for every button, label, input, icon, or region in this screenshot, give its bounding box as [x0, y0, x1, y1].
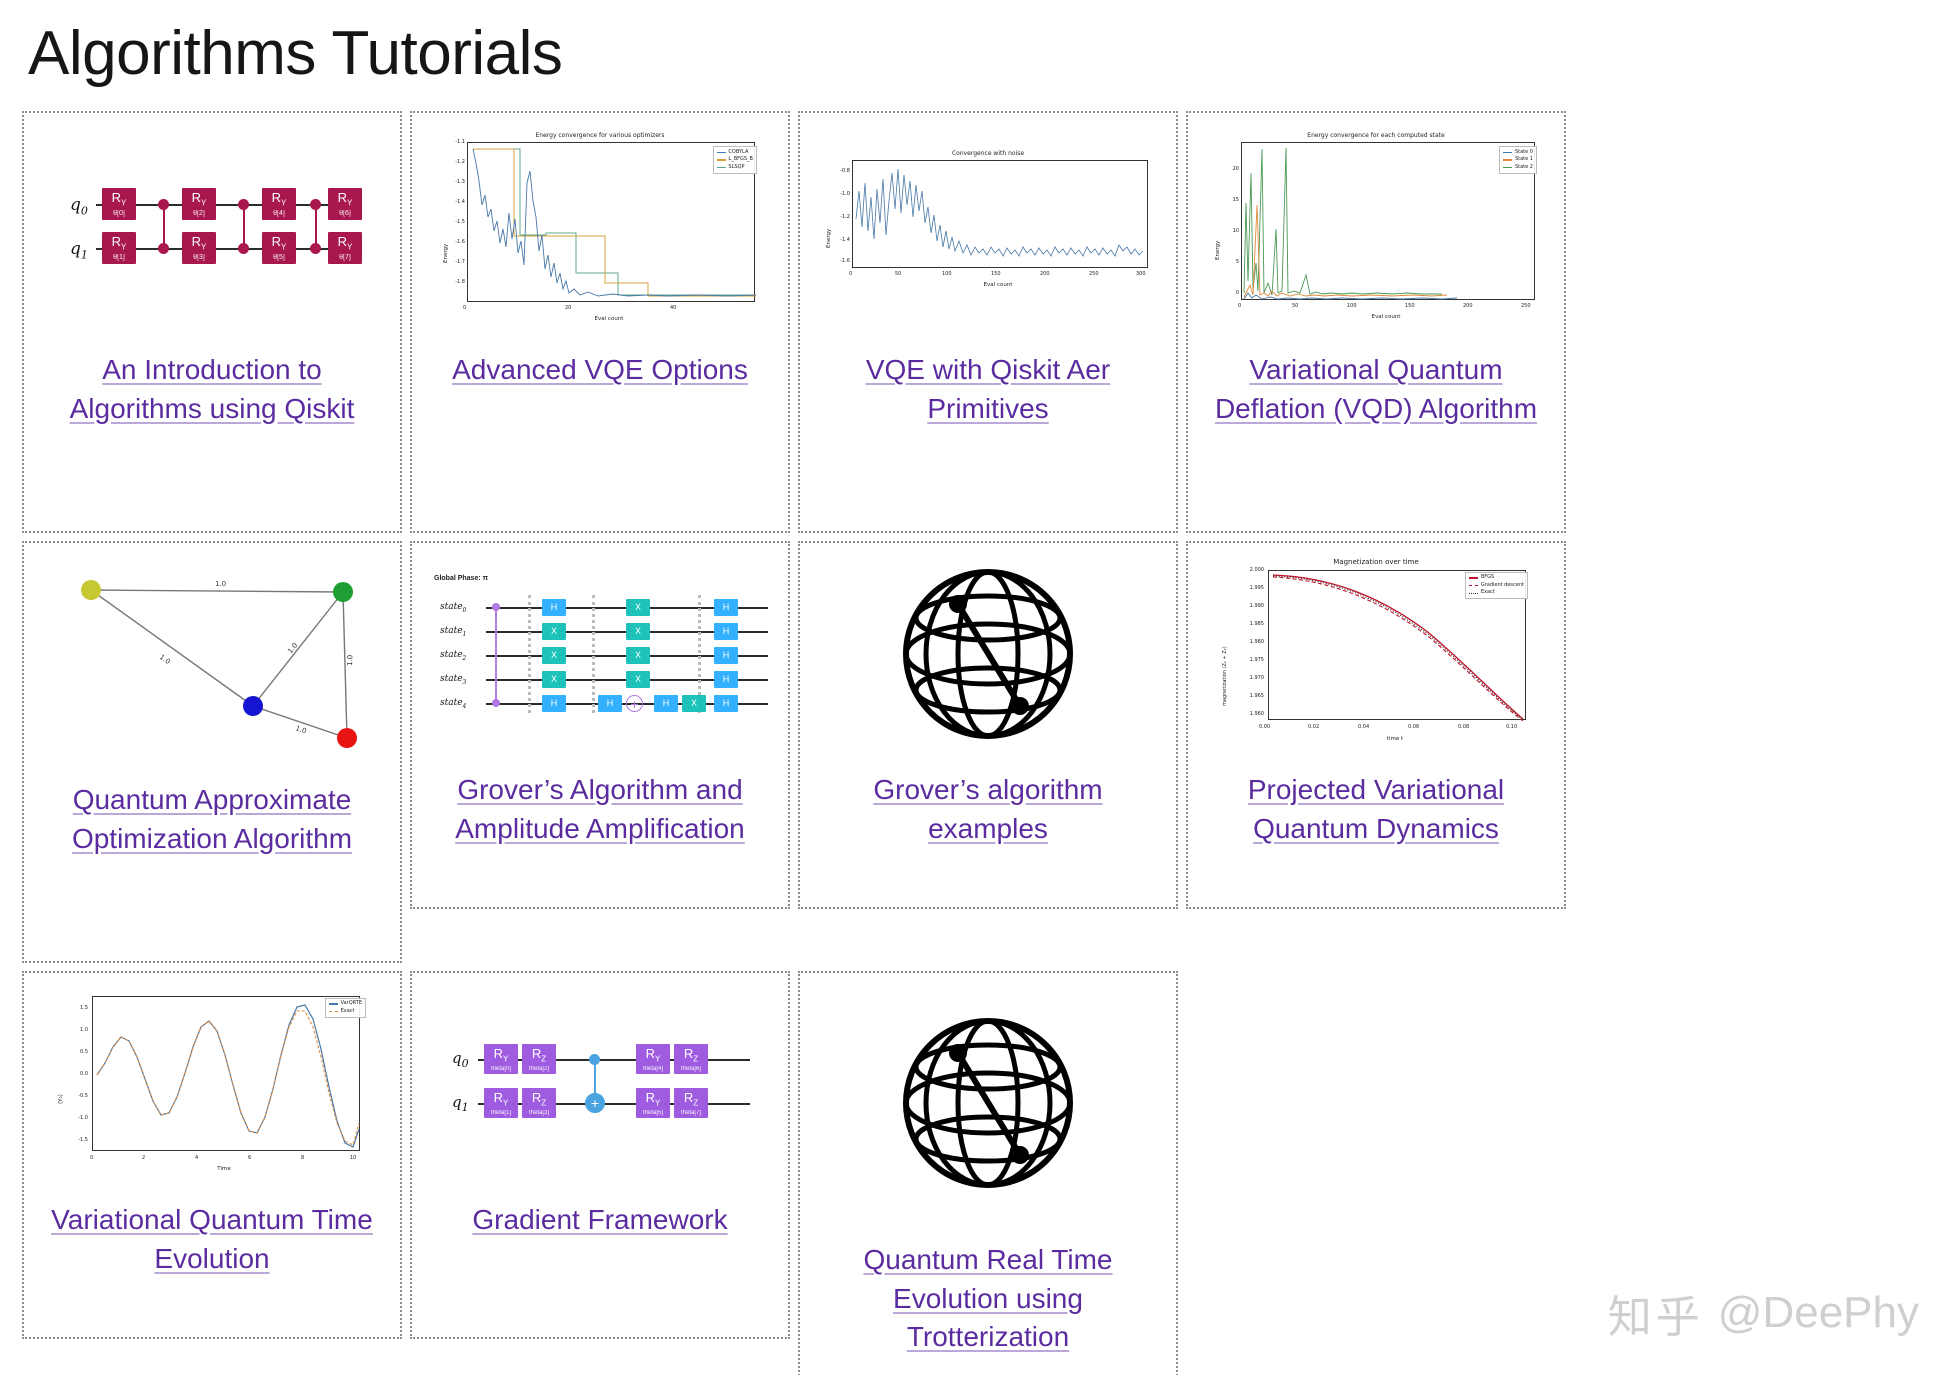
gate-ry-0: RYθ[0] [102, 188, 136, 220]
legend-entry: Exact [341, 1008, 355, 1016]
card-title-link[interactable]: VQE with Qiskit Aer Primitives [808, 351, 1168, 428]
xtick-label: 0.10 [1506, 724, 1517, 730]
chart-ylabel: Energy [1215, 241, 1221, 260]
xtick-label: 0.08 [1458, 724, 1469, 730]
cz-control-1b [158, 243, 169, 254]
gate-ry-5: RYθ[5] [262, 232, 296, 264]
bloch-sphere [888, 1003, 1088, 1203]
ytick-label: -1.6 [820, 258, 850, 264]
ytick-label: 2.000 [1226, 567, 1264, 573]
ytick-label: -1.2 [820, 214, 850, 220]
legend-entry: VarQRTE [341, 1000, 362, 1008]
ytick-label: 1.995 [1226, 585, 1264, 591]
chart-title: Convergence with noise [818, 150, 1158, 157]
ytick-label: -1.4 [437, 199, 465, 205]
svg-text:1.0: 1.0 [294, 725, 307, 736]
xtick-label: 4 [195, 1155, 198, 1161]
card-title-link[interactable]: Grover’s algorithm examples [808, 771, 1168, 848]
gate-rz-t3: RZtheta[3] [522, 1088, 556, 1118]
chart-legend: VarQRTE Exact [325, 998, 366, 1018]
legend-entry: Gradient descent [1481, 582, 1524, 590]
ytick-label: 20 [1209, 166, 1239, 172]
cz-control-2b [238, 243, 249, 254]
svg-text:1.0: 1.0 [158, 653, 172, 666]
ytick-label: 1.990 [1226, 603, 1264, 609]
ytick-label: 1.0 [54, 1027, 88, 1033]
gate-ry-2: RYθ[2] [182, 188, 216, 220]
watermark-handle: @DeePhy [1718, 1288, 1919, 1338]
gate-ry-t0: RYtheta[0] [484, 1044, 518, 1074]
thumbnail-circuit-gradient: q0 q1 RYtheta[0] RZtheta[2] RYtheta[1] R… [420, 983, 780, 1183]
ytick-label: 1.985 [1226, 621, 1264, 627]
chart-xlabel: Eval count [1239, 314, 1533, 320]
xtick-label: 10 [350, 1155, 356, 1161]
tutorial-card-grid: q0 q1 RYθ[0] RYθ[1] [0, 89, 1947, 1375]
ytick-label: -1.3 [437, 179, 465, 185]
tutorial-card-gradient-framework[interactable]: q0 q1 RYtheta[0] RZtheta[2] RYtheta[1] R… [410, 971, 790, 1339]
xtick-label: 100 [1347, 303, 1357, 309]
chart-legend: BFGS Gradient descent Exact [1465, 572, 1528, 600]
chart-xlabel: time t [1266, 736, 1524, 742]
chart-title: Energy convergence for various optimizer… [435, 132, 765, 139]
tutorial-card-grover-amplitude-amplification[interactable]: Global Phase: π state0 state1 state2 sta… [410, 541, 790, 909]
ytick-label: -1.8 [437, 279, 465, 285]
gate-rz-t7: RZtheta[7] [674, 1088, 708, 1118]
card-title-link[interactable]: Advanced VQE Options [446, 351, 754, 389]
gate-rz-t2: RZtheta[2] [522, 1044, 556, 1074]
card-title-link[interactable]: Gradient Framework [466, 1201, 733, 1239]
chart-xlabel: Eval count [850, 282, 1146, 288]
ytick-label: -1.0 [820, 191, 850, 197]
xtick-label: 0.00 [1259, 724, 1270, 730]
svg-text:1.0: 1.0 [215, 580, 226, 588]
xtick-label: 8 [301, 1155, 304, 1161]
state-label-2: state2 [440, 650, 466, 662]
card-title-link[interactable]: Quantum Approximate Optimization Algorit… [32, 781, 392, 858]
state-label-4: state4 [440, 698, 466, 710]
ytick-label: 1.980 [1226, 639, 1264, 645]
global-phase-label: Global Phase: π [434, 575, 488, 582]
qubit-label-q1: q1 [70, 239, 88, 261]
legend-entry: L_BFGS_B [728, 156, 753, 164]
card-title-link[interactable]: Variational Quantum Time Evolution [32, 1201, 392, 1278]
state-label-3: state3 [440, 674, 466, 686]
svg-text:1.0: 1.0 [286, 642, 299, 656]
chart-plot-area [93, 997, 361, 1152]
qubit-label-q0: q0 [452, 1049, 469, 1070]
gate-rz-t6: RZtheta[6] [674, 1044, 708, 1074]
cz-control-3a [310, 199, 321, 210]
state-label-1: state1 [440, 626, 466, 638]
xtick-label: 0 [1238, 303, 1241, 309]
chart-legend: COBYLA L_BFGS_B SLSQP [713, 146, 757, 174]
chart-title: Magnetization over time [1216, 558, 1536, 566]
ytick-label: 15 [1209, 197, 1239, 203]
xtick-label: 250 [1521, 303, 1531, 309]
legend-entry: BFGS [1481, 574, 1494, 582]
cnot-target: + [585, 1093, 605, 1113]
cz-link-1 [163, 204, 165, 248]
ytick-label: 1.970 [1226, 675, 1264, 681]
page-root: Algorithms Tutorials q0 q1 RYθ[0] RYθ[1] [0, 18, 1947, 1375]
xtick-label: 0 [463, 305, 466, 311]
xtick-label: 40 [670, 305, 676, 311]
card-title-link[interactable]: Grover’s Algorithm and Amplitude Amplifi… [420, 771, 780, 848]
card-title-link[interactable]: An Introduction to Algorithms using Qisk… [32, 351, 392, 428]
chart-title: Energy convergence for each computed sta… [1207, 132, 1545, 139]
legend-entry: State 2 [1515, 164, 1533, 172]
cz-link-3 [315, 204, 317, 248]
xtick-label: 0.02 [1308, 724, 1319, 730]
legend-entry: Exact [1481, 589, 1495, 597]
ytick-label: -1.7 [437, 259, 465, 265]
ytick-label: -1.1 [437, 139, 465, 145]
xtick-label: 150 [991, 271, 1001, 277]
gate-ry-t1: RYtheta[1] [484, 1088, 518, 1118]
xtick-label: 20 [565, 305, 571, 311]
xtick-label: 100 [942, 271, 952, 277]
tutorial-card-intro-algorithms-qiskit[interactable]: q0 q1 RYθ[0] RYθ[1] [22, 111, 402, 533]
ytick-label: -1.4 [820, 237, 850, 243]
xtick-label: 150 [1405, 303, 1415, 309]
thumbnail-circuit-ry: q0 q1 RYθ[0] RYθ[1] [32, 123, 392, 333]
xtick-label: 0.06 [1408, 724, 1419, 730]
tutorial-card-varqte[interactable]: ⟨Y₀⟩ 1.5 1.0 0.5 0.0 -0.5 -1.0 -1.5 0 [22, 971, 402, 1339]
thumbnail-circuit-grover: Global Phase: π state0 state1 state2 sta… [420, 553, 780, 753]
xtick-label: 2 [142, 1155, 145, 1161]
ytick-label: -1.5 [437, 219, 465, 225]
ytick-label: 5 [1209, 259, 1239, 265]
xtick-label: 6 [248, 1155, 251, 1161]
watermark-logo: 知乎 [1608, 1281, 1704, 1345]
qubit-label-q1: q1 [452, 1093, 469, 1114]
ytick-label: -0.8 [820, 168, 850, 174]
legend-entry: SLSQP [728, 164, 744, 172]
gate-ry-6: RYθ[6] [328, 188, 362, 220]
chart-xlabel: Time [90, 1166, 358, 1172]
watermark: 知乎 @DeePhy [1608, 1281, 1919, 1345]
thumbnail-bloch-sphere-trotter [808, 983, 1168, 1223]
state-label-0: state0 [440, 602, 466, 614]
ytick-label: -1.2 [437, 159, 465, 165]
maxcut-graph: 1.0 1.0 1.0 1.0 1.0 [47, 558, 377, 758]
xtick-label: 300 [1136, 271, 1146, 277]
ytick-label: 10 [1209, 228, 1239, 234]
cnot-control [589, 1054, 600, 1065]
tutorial-card-qaoa[interactable]: 1.0 1.0 1.0 1.0 1.0 Quantum Approximate … [22, 541, 402, 963]
gate-ry-1: RYθ[1] [102, 232, 136, 264]
tutorial-card-quantum-real-time-evolution-trotterization[interactable]: Quantum Real Time Evolution using Trotte… [798, 971, 1178, 1375]
ytick-label: 1.960 [1226, 711, 1264, 717]
thumbnail-chart-varqte: ⟨Y₀⟩ 1.5 1.0 0.5 0.0 -0.5 -1.0 -1.5 0 [32, 983, 392, 1183]
ytick-label: -0.5 [54, 1093, 88, 1099]
ytick-label: -1.6 [437, 239, 465, 245]
thumbnail-chart-convergence-with-noise: Convergence with noise Energy -0.8 -1.0 … [808, 123, 1168, 333]
xtick-label: 0.04 [1358, 724, 1369, 730]
svg-text:1.0: 1.0 [346, 655, 354, 666]
xtick-label: 0 [849, 271, 852, 277]
ytick-label: 1.5 [54, 1005, 88, 1011]
page-title: Algorithms Tutorials [28, 18, 1947, 89]
cz-link-2 [243, 204, 245, 248]
xtick-label: 200 [1040, 271, 1050, 277]
cz-control-1a [158, 199, 169, 210]
legend-entry: State 1 [1515, 156, 1533, 164]
cz-control-3b [310, 243, 321, 254]
thumbnail-chart-vqd-energy-convergence: Energy convergence for each computed sta… [1196, 123, 1556, 333]
ytick-label: 0.5 [54, 1049, 88, 1055]
tutorial-card-pvqd[interactable]: Magnetization over time magnetization ⟨Z… [1186, 541, 1566, 909]
tutorial-card-grover-examples[interactable]: Grover’s algorithm examples [798, 541, 1178, 909]
tutorial-card-advanced-vqe-options[interactable]: Energy convergence for various optimizer… [410, 111, 790, 533]
chart-plot-area [1242, 143, 1536, 301]
ytick-label: 0.0 [54, 1071, 88, 1077]
gate-ry-7: RYθ[7] [328, 232, 362, 264]
cz-control-2a [238, 199, 249, 210]
ytick-label: 1.975 [1226, 657, 1264, 663]
thumbnail-bloch-sphere [808, 553, 1168, 753]
thumbnail-graph-maxcut: 1.0 1.0 1.0 1.0 1.0 [32, 553, 392, 763]
ytick-label: 0 [1209, 290, 1239, 296]
card-title-link[interactable]: Projected Variational Quantum Dynamics [1196, 771, 1556, 848]
gate-ry-3: RYθ[3] [182, 232, 216, 264]
chart-xlabel: Eval count [465, 316, 753, 322]
card-title-link[interactable]: Variational Quantum Deflation (VQD) Algo… [1196, 351, 1556, 428]
chart-plot-area [853, 161, 1149, 269]
gate-ry-t4: RYtheta[4] [636, 1044, 670, 1074]
gate-ry-t5: RYtheta[5] [636, 1088, 670, 1118]
card-title-link[interactable]: Quantum Real Time Evolution using Trotte… [808, 1241, 1168, 1356]
tutorial-card-vqe-qiskit-aer-primitives[interactable]: Convergence with noise Energy -0.8 -1.0 … [798, 111, 1178, 533]
legend-entry: State 0 [1515, 149, 1533, 157]
thumbnail-chart-magnetization: Magnetization over time magnetization ⟨Z… [1196, 553, 1556, 753]
ytick-label: 1.965 [1226, 693, 1264, 699]
bloch-sphere [888, 556, 1088, 751]
ytick-label: -1.0 [54, 1115, 88, 1121]
ytick-label: -1.5 [54, 1137, 88, 1143]
xtick-label: 50 [1292, 303, 1298, 309]
xtick-label: 200 [1463, 303, 1473, 309]
qubit-label-q0: q0 [70, 195, 88, 217]
xtick-label: 0 [90, 1155, 93, 1161]
thumbnail-chart-energy-convergence-optimizers: Energy convergence for various optimizer… [420, 123, 780, 333]
gate-ry-4: RYθ[4] [262, 188, 296, 220]
legend-entry: COBYLA [728, 149, 748, 157]
xtick-label: 250 [1089, 271, 1099, 277]
xtick-label: 50 [895, 271, 901, 277]
chart-legend: State 0 State 1 State 2 [1499, 146, 1537, 174]
tutorial-card-vqd-algorithm[interactable]: Energy convergence for each computed sta… [1186, 111, 1566, 533]
